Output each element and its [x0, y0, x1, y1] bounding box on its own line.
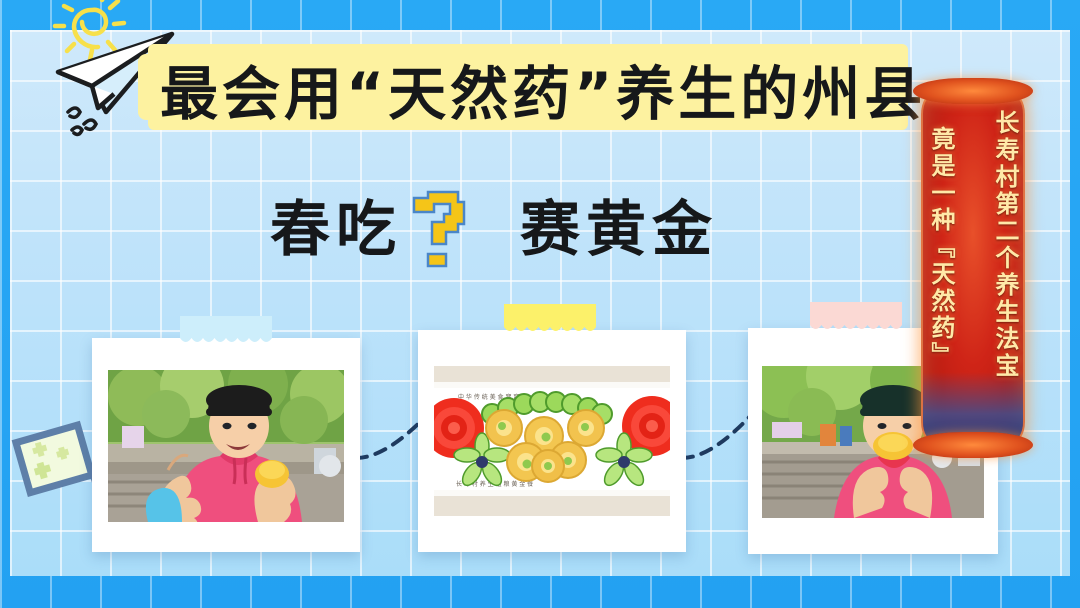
card-photo: 中 华 传 统 美 食 窝 窝 头 长 寿 村 养 生 粗 粮 黄 金 餐 [434, 366, 670, 516]
plate-of-corn-buns-with-cucumber-flowers: 中 华 传 统 美 食 窝 窝 头 长 寿 村 养 生 粗 粮 黄 金 餐 [434, 366, 670, 516]
poster-canvas: 最会用“天然药”养生的州县 春吃 赛黄金 [0, 0, 1080, 608]
card-photo [108, 370, 344, 522]
banner-text-left: 竟是一种『天然药』 [929, 126, 953, 438]
title-line2-before: 春吃 [270, 188, 402, 272]
photo-card[interactable] [92, 338, 360, 552]
title-line2-after: 赛黄金 [520, 188, 718, 272]
washi-tape-blue [180, 316, 272, 346]
page-title-line2: 春吃 赛黄金 [270, 188, 870, 272]
banner-cap-top [913, 78, 1033, 104]
banner-text-right: 长寿村第二个养生法宝 [993, 110, 1017, 422]
question-mark-pixel-icon [408, 190, 478, 270]
photo-card[interactable]: 中 华 传 统 美 食 窝 窝 头 长 寿 村 养 生 粗 粮 黄 金 餐 [418, 330, 686, 552]
dashed-curve-connector [678, 396, 758, 468]
vertical-red-banner: 长寿村第二个养生法宝 竟是一种『天然药』 [921, 92, 1025, 444]
washi-tape-pink [810, 302, 902, 334]
page-title-line1: 最会用“天然药”养生的州县 [160, 58, 950, 130]
washi-tape-yellow [504, 304, 596, 336]
man-thumbs-up-holding-yellow-bun [108, 370, 344, 522]
swirl-doodle-icon [62, 100, 108, 140]
